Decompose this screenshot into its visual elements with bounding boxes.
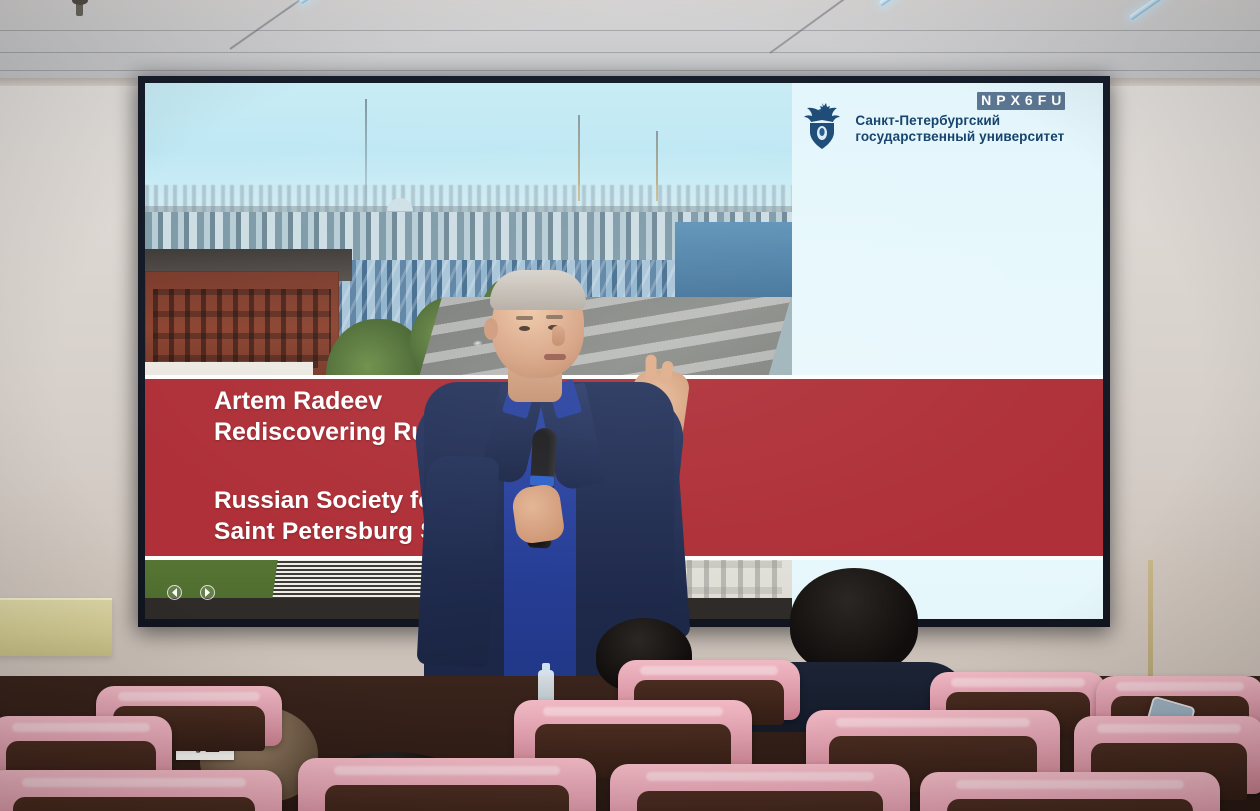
spbu-logo-text: N P X 6 F U Санкт-Петербургский государс… (855, 101, 1064, 145)
previous-slide-button[interactable] (167, 585, 182, 600)
seat-back-panel (947, 799, 1193, 811)
seat-highlight (22, 778, 247, 787)
university-name-line-1: Санкт-Петербургский (855, 113, 1064, 129)
seat-highlight (334, 766, 560, 775)
spbu-logo: N P X 6 F U Санкт-Петербургский государс… (798, 101, 1064, 151)
seat-highlight (12, 723, 150, 732)
seat-highlight (646, 772, 874, 781)
ceiling (0, 0, 1260, 78)
seat-highlight (640, 666, 778, 675)
speaker-nose (552, 326, 565, 346)
next-slide-button[interactable] (200, 585, 215, 600)
seat-highlight (1097, 724, 1241, 733)
speaker-hair (490, 270, 586, 310)
seat-highlight (543, 707, 724, 716)
audience-head (790, 568, 918, 674)
badge-letter: F (1038, 93, 1047, 108)
slide-navigation (167, 585, 215, 600)
seat[interactable] (920, 772, 1220, 811)
speaker-mouth (544, 354, 566, 360)
seat-back-panel (13, 797, 256, 811)
badge-letter: P (996, 93, 1005, 108)
seat-highlight (951, 678, 1085, 687)
seat[interactable] (610, 764, 910, 811)
wall-trim (1148, 560, 1153, 680)
seat-highlight (118, 692, 259, 701)
seat-highlight (956, 780, 1184, 789)
speaker-hand-holding-microphone (510, 483, 565, 545)
seat[interactable] (0, 770, 282, 811)
seat-highlight (1116, 682, 1244, 691)
wall-wood-panel (0, 598, 112, 656)
russian-double-headed-eagle-emblem (798, 101, 846, 151)
speaker-eye (519, 326, 530, 331)
speaker-ear (484, 318, 498, 340)
seat-back-panel (637, 791, 883, 811)
photo-river-far (675, 222, 791, 297)
seat-back-panel (325, 785, 569, 811)
speaker-left-arm (417, 454, 500, 667)
badge-letter: 6 (1025, 93, 1033, 108)
university-name-line-2: государственный университет (855, 129, 1064, 145)
speaker-finger (646, 355, 657, 381)
speaker-finger (659, 360, 674, 384)
badge-letter: X (1011, 93, 1020, 108)
ceiling-sprinkler-icon (72, 0, 88, 22)
npx6fu-badge: N P X 6 F U (977, 92, 1065, 110)
speaker-eyebrow (516, 316, 533, 320)
badge-letter: N (981, 93, 991, 108)
seat-highlight (836, 718, 1029, 727)
seat[interactable] (298, 758, 596, 811)
badge-letter: U (1051, 93, 1061, 108)
lecture-hall-screenshot: N P X 6 F U Санкт-Петербургский государс… (0, 0, 1260, 811)
speaker-eyebrow (546, 315, 563, 319)
